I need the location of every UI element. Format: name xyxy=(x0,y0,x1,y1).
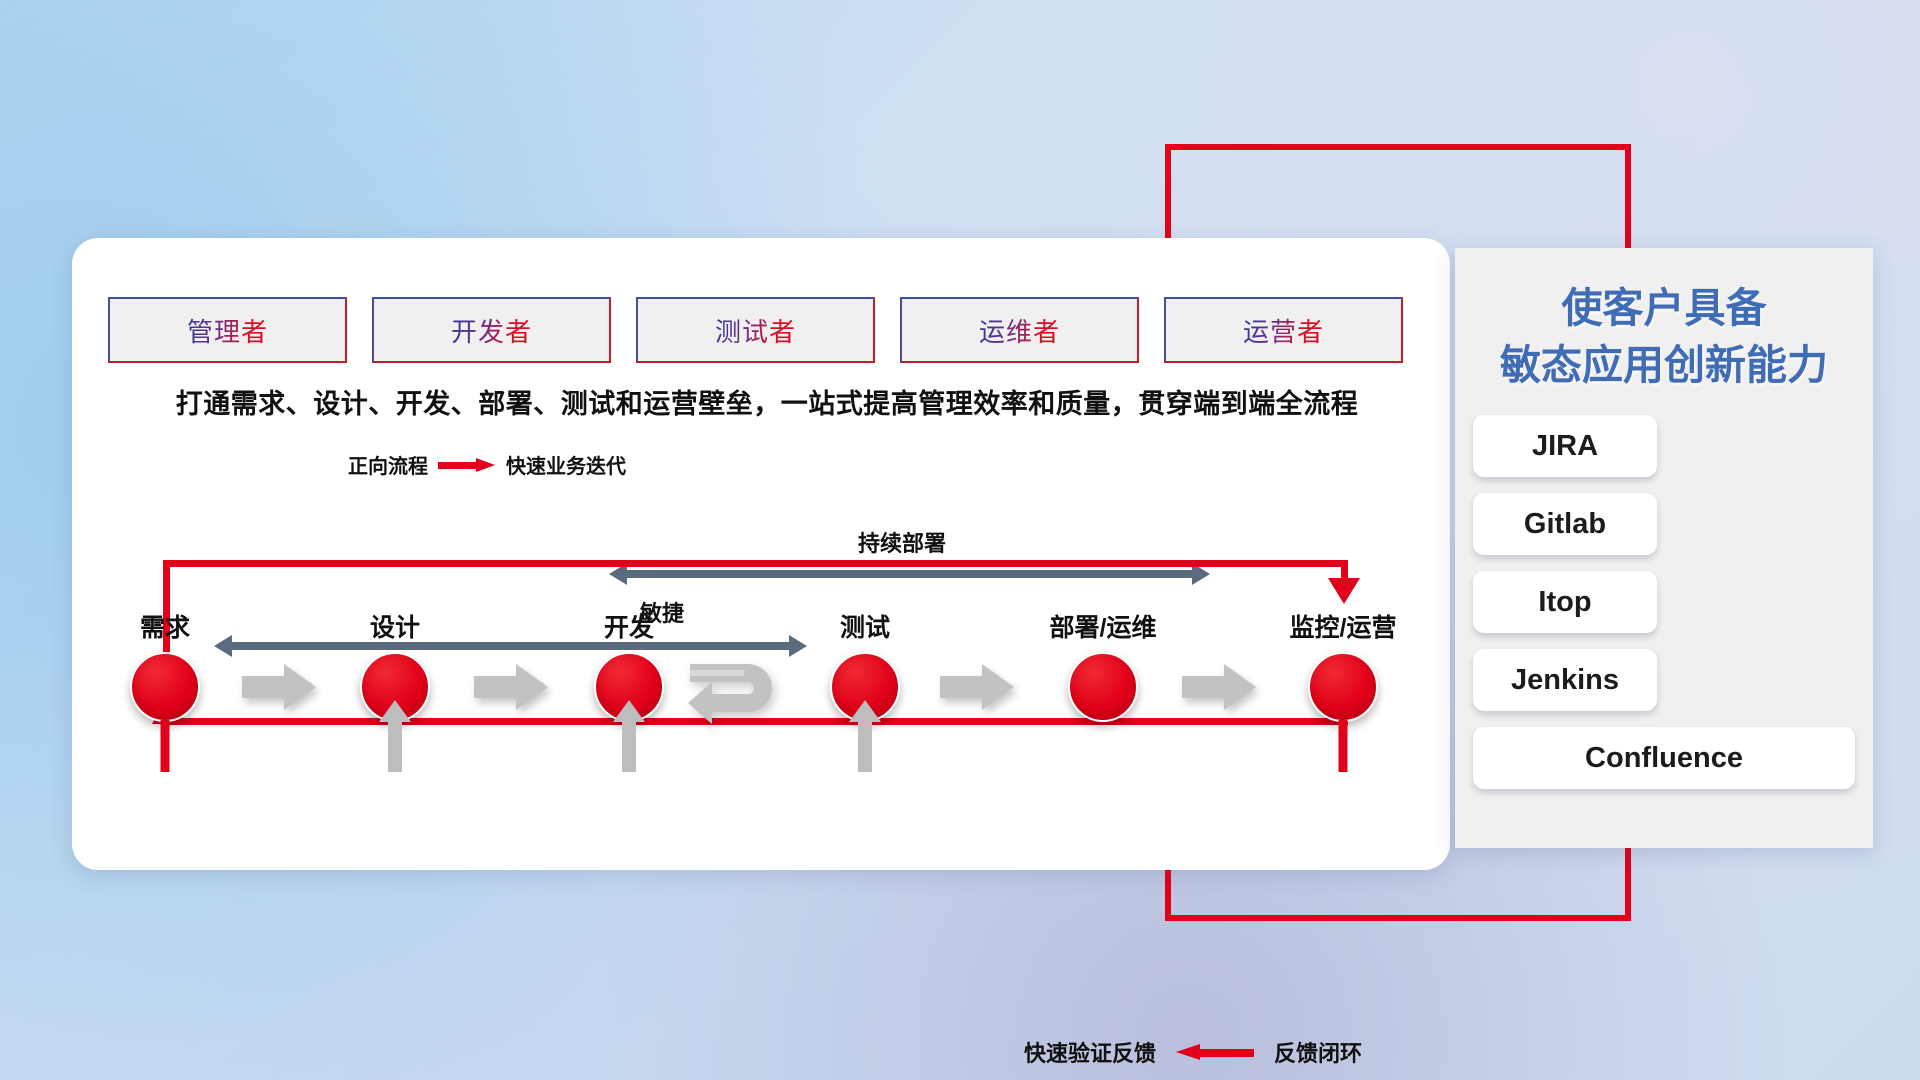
stage-monitor-operations[interactable]: 监控/运营 xyxy=(1308,652,1378,722)
process-loop-down-arrowhead xyxy=(1328,578,1360,604)
stage-gray-connector xyxy=(388,720,402,772)
panel-title-line-1: 使客户具备 xyxy=(1455,280,1873,337)
right-arrow-icon xyxy=(438,458,496,472)
stage-deploy-ops[interactable]: 部署/运维 xyxy=(1068,652,1138,722)
cycle-uturn-arrow-icon xyxy=(686,648,796,743)
tool-tag-label: Jenkins xyxy=(1511,664,1619,697)
tool-tag-jira[interactable]: JIRA xyxy=(1473,415,1657,477)
subtitle-text: 打通需求、设计、开发、部署、测试和运营壁垒，一站式提高管理效率和质量，贯穿端到端… xyxy=(122,382,1412,421)
stage-gray-connector xyxy=(622,720,636,772)
stage-development[interactable]: 开发 xyxy=(594,652,664,722)
role-chip-label: 运维者 xyxy=(979,312,1060,349)
role-chip-label: 开发者 xyxy=(451,312,532,349)
process-loop-right-line xyxy=(1341,560,1348,580)
panel-title-line-2: 敏态应用创新能力 xyxy=(1455,337,1873,394)
tool-tag-label: JIRA xyxy=(1532,430,1598,463)
tool-tag-confluence[interactable]: Confluence xyxy=(1473,727,1855,789)
stage-label: 监控/运营 xyxy=(1290,608,1397,644)
right-value-panel: 使客户具备 敏态应用创新能力 JIRA Gitlab Itop Jenkins … xyxy=(1455,248,1873,848)
role-chip-label: 测试者 xyxy=(715,312,796,349)
stage-label: 设计 xyxy=(370,608,420,644)
role-chip-row: 管理者 开发者 测试者 运维者 运营者 xyxy=(108,297,1408,363)
feedback-left-text: 快速验证反馈 xyxy=(1024,1036,1156,1068)
stage-red-connector xyxy=(1339,720,1348,772)
stage-label: 部署/运维 xyxy=(1050,608,1157,644)
role-chip-manager[interactable]: 管理者 xyxy=(108,297,347,363)
role-chip-label: 管理者 xyxy=(187,312,268,349)
role-chip-tester[interactable]: 测试者 xyxy=(636,297,875,363)
role-chip-developer[interactable]: 开发者 xyxy=(372,297,611,363)
tool-tag-label: Itop xyxy=(1538,586,1591,619)
stage-label: 测试 xyxy=(840,608,890,644)
stage-dot xyxy=(1068,652,1138,722)
flow-arrow-2-icon xyxy=(474,664,548,710)
forward-flow-from: 正向流程 xyxy=(348,450,428,479)
flow-arrow-4-icon xyxy=(1182,664,1256,710)
stage-label: 开发 xyxy=(604,608,654,644)
tool-tag-label: Confluence xyxy=(1585,742,1743,775)
stage-red-connector xyxy=(161,720,170,772)
forward-flow-legend: 正向流程 快速业务迭代 xyxy=(348,450,626,479)
process-loop-top-line xyxy=(163,560,1348,567)
stage-requirements[interactable]: 需求 xyxy=(130,652,200,722)
stage-design[interactable]: 设计 xyxy=(360,652,430,722)
left-arrow-icon xyxy=(1176,1044,1254,1060)
feedback-loop-legend: 快速验证反馈 反馈闭环 xyxy=(1024,1036,1362,1068)
tool-tag-gitlab[interactable]: Gitlab xyxy=(1473,493,1657,555)
stage-dot xyxy=(130,652,200,722)
flow-arrow-1-icon xyxy=(242,664,316,710)
panel-title: 使客户具备 敏态应用创新能力 xyxy=(1455,280,1873,393)
tool-tag-list: JIRA Gitlab Itop Jenkins Confluence xyxy=(1473,415,1855,789)
stage-gray-connector xyxy=(858,720,872,772)
feedback-right-text: 反馈闭环 xyxy=(1274,1036,1362,1068)
tool-tag-label: Gitlab xyxy=(1524,508,1606,541)
stage-label: 需求 xyxy=(140,608,190,644)
stage-testing[interactable]: 测试 xyxy=(830,652,900,722)
forward-flow-to: 快速业务迭代 xyxy=(506,450,626,479)
main-diagram-card: 管理者 开发者 测试者 运维者 运营者 打通需求、设计、开发、部署、测试和运营壁… xyxy=(72,238,1450,870)
tool-tag-itop[interactable]: Itop xyxy=(1473,571,1657,633)
role-chip-label: 运营者 xyxy=(1243,312,1324,349)
stage-dot xyxy=(1308,652,1378,722)
tool-tag-jenkins[interactable]: Jenkins xyxy=(1473,649,1657,711)
flow-arrow-3-icon xyxy=(940,664,1014,710)
role-chip-operations[interactable]: 运营者 xyxy=(1164,297,1403,363)
role-chip-ops[interactable]: 运维者 xyxy=(900,297,1139,363)
continuous-deployment-label: 持续部署 xyxy=(772,526,1032,558)
agile-label: 敏捷 xyxy=(532,596,792,628)
